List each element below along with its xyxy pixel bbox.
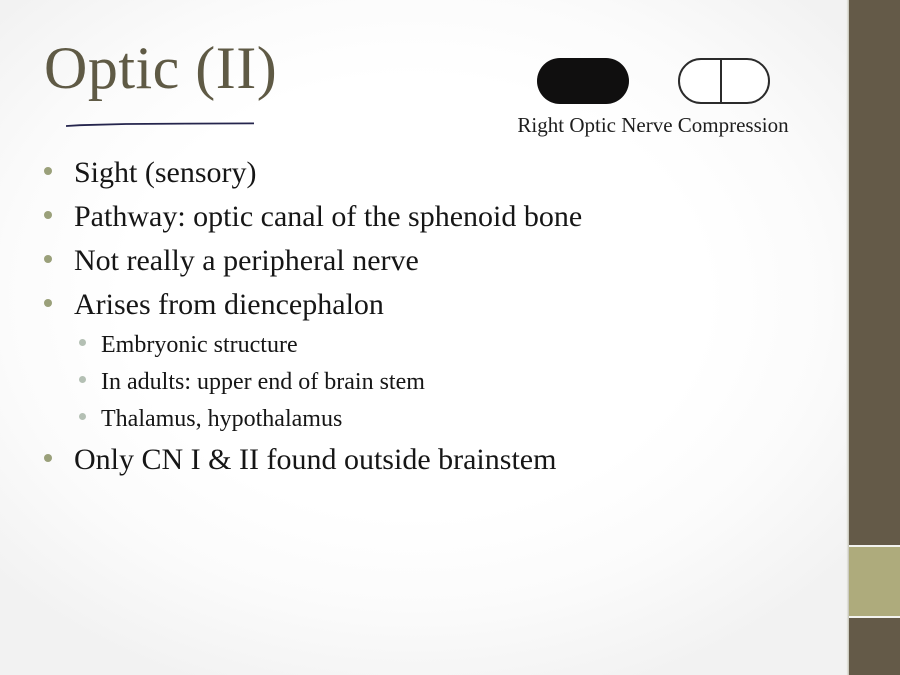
slide: Optic (II) Right Optic Nerve Compression… [0,0,900,675]
bullet-text: Pathway: optic canal of the sphenoid bon… [74,200,582,234]
sidebar-band-bottom [849,618,900,675]
bullet-item: Only CN I & II found outside brainstem [44,443,824,487]
visual-field-figure: Right Optic Nerve Compression [493,56,813,138]
bullet-list: Sight (sensory) Pathway: optic canal of … [44,156,824,487]
bullet-item: Not really a peripheral nerve [44,244,824,288]
bullet-text: Not really a peripheral nerve [74,244,419,278]
sub-bullet-text: In adults: upper end of brain stem [101,369,425,396]
split-visual-field-icon [678,58,770,104]
bullet-text: Sight (sensory) [74,156,257,190]
bullet-marker-icon [44,255,52,263]
sub-bullet-text: Embryonic structure [101,332,298,359]
bullet-marker-icon [44,454,52,462]
bullet-text: Only CN I & II found outside brainstem [74,443,556,477]
bullet-marker-icon [44,299,52,307]
figure-caption: Right Optic Nerve Compression [493,113,813,138]
field-divider-line [720,58,722,104]
bullet-marker-icon [44,167,52,175]
decorative-sidebar [846,0,900,675]
sub-bullet-item: In adults: upper end of brain stem [44,369,824,406]
sidebar-band-top [849,0,900,545]
title-underline [66,122,254,125]
bullet-item: Pathway: optic canal of the sphenoid bon… [44,200,824,244]
slide-title: Optic (II) [44,38,277,98]
bullet-marker-icon [44,211,52,219]
sub-bullet-text: Thalamus, hypothalamus [101,406,342,433]
filled-visual-field-icon [537,58,629,104]
bullet-item: Arises from diencephalon [44,288,824,332]
sub-bullet-item: Embryonic structure [44,332,824,369]
sub-bullet-marker-icon [79,376,86,383]
sidebar-band-accent [849,547,900,616]
bullet-text: Arises from diencephalon [74,288,384,322]
sub-bullet-marker-icon [79,413,86,420]
visual-field-pair [493,56,813,106]
sub-bullet-item: Thalamus, hypothalamus [44,406,824,443]
sub-bullet-marker-icon [79,339,86,346]
bullet-item: Sight (sensory) [44,156,824,200]
